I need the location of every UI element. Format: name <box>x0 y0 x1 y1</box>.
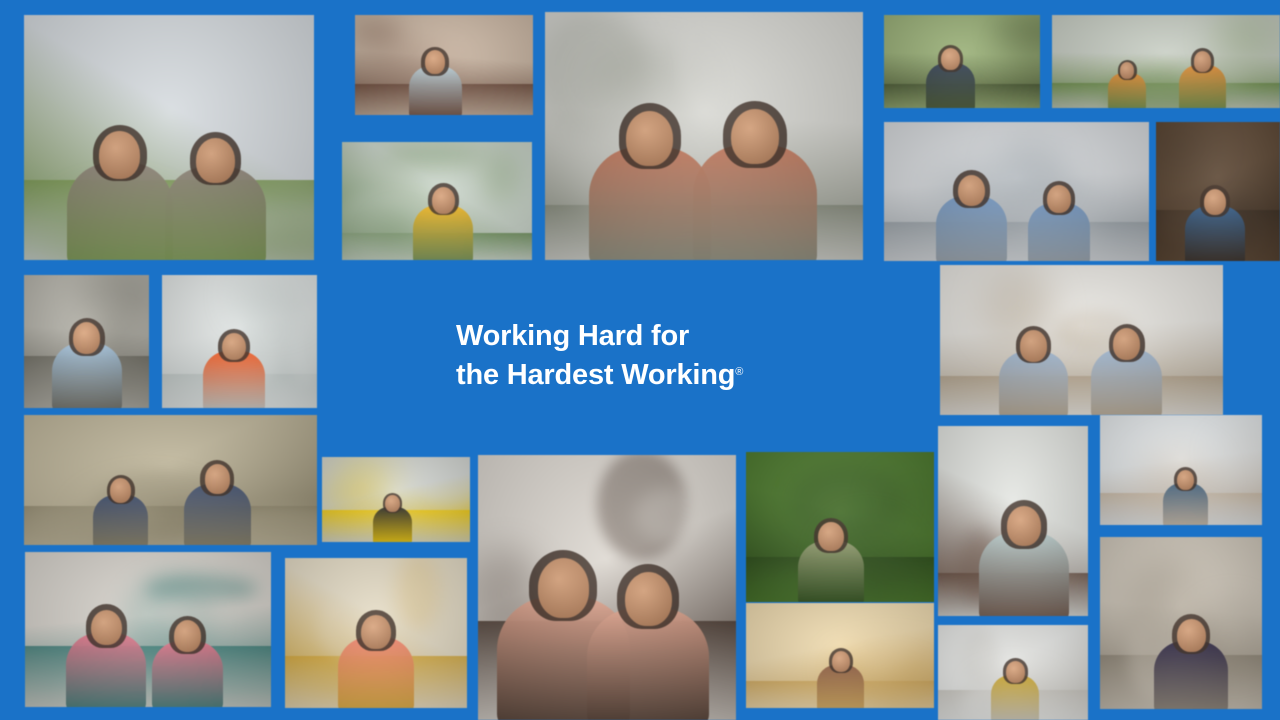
photo-color-grade <box>478 455 736 720</box>
collage-photo-nurse-with-child <box>1100 415 1262 525</box>
collage-photo-classroom-teacher-students <box>1052 15 1280 108</box>
photo-color-grade <box>884 122 1149 261</box>
photo-color-grade <box>940 265 1223 415</box>
photo-color-grade <box>746 452 934 602</box>
collage-photo-auto-mechanic-garage <box>884 122 1149 261</box>
photo-color-grade <box>322 457 470 542</box>
photo-color-grade <box>746 603 934 708</box>
collage-photo-couple-embracing <box>938 426 1088 616</box>
photo-color-grade <box>25 552 271 707</box>
registered-trademark-icon: ® <box>735 366 743 378</box>
collage-photo-senior-couple-sofa <box>162 275 317 408</box>
headline-line-2-wrap: the Hardest Working® <box>456 354 796 393</box>
collage-canvas: Working Hard for the Hardest Working® <box>0 0 1280 720</box>
photo-color-grade <box>1052 15 1280 108</box>
headline-line-1: Working Hard for <box>456 318 796 354</box>
photo-color-grade <box>938 625 1088 720</box>
collage-photo-mother-kissing-daughter <box>478 455 736 720</box>
photo-color-grade <box>342 142 532 260</box>
collage-photo-construction-workers-coffee <box>24 415 317 545</box>
collage-photo-mother-daughter-yellow <box>342 142 532 260</box>
photo-color-grade <box>355 15 533 115</box>
photo-color-grade <box>545 12 863 260</box>
photo-color-grade <box>24 15 314 260</box>
photo-color-grade <box>24 275 149 408</box>
photo-color-grade <box>162 275 317 408</box>
collage-photo-office-woman-glasses <box>940 265 1223 415</box>
photo-color-grade <box>1156 122 1280 261</box>
photo-color-grade <box>1100 537 1262 709</box>
headline-line-2: the Hardest Working <box>456 359 735 391</box>
collage-photo-shop-worker-overalls <box>1156 122 1280 261</box>
collage-photo-woman-floral-stretching <box>1100 537 1262 709</box>
photo-color-grade <box>285 558 467 708</box>
collage-photo-cafe-worker-apron <box>545 12 863 260</box>
collage-photo-military-family-hug <box>884 15 1040 108</box>
collage-photo-retail-worker-apron <box>322 457 470 542</box>
collage-photo-family-toddlers-outdoors <box>285 558 467 708</box>
photo-color-grade <box>24 415 317 545</box>
collage-photo-family-couch-tablet <box>355 15 533 115</box>
collage-photo-women-child-field <box>746 603 934 708</box>
collage-photo-female-soldier-camo <box>746 452 934 602</box>
photo-color-grade <box>884 15 1040 108</box>
collage-photo-factory-worker-polo <box>24 275 149 408</box>
photo-color-grade <box>1100 415 1262 525</box>
collage-photo-family-of-five-sidewalk <box>24 15 314 260</box>
collage-photo-family-four-indoors <box>25 552 271 707</box>
photo-color-grade <box>938 426 1088 616</box>
headline-block: Working Hard for the Hardest Working® <box>456 318 796 393</box>
collage-photo-woman-mustard-top <box>938 625 1088 720</box>
